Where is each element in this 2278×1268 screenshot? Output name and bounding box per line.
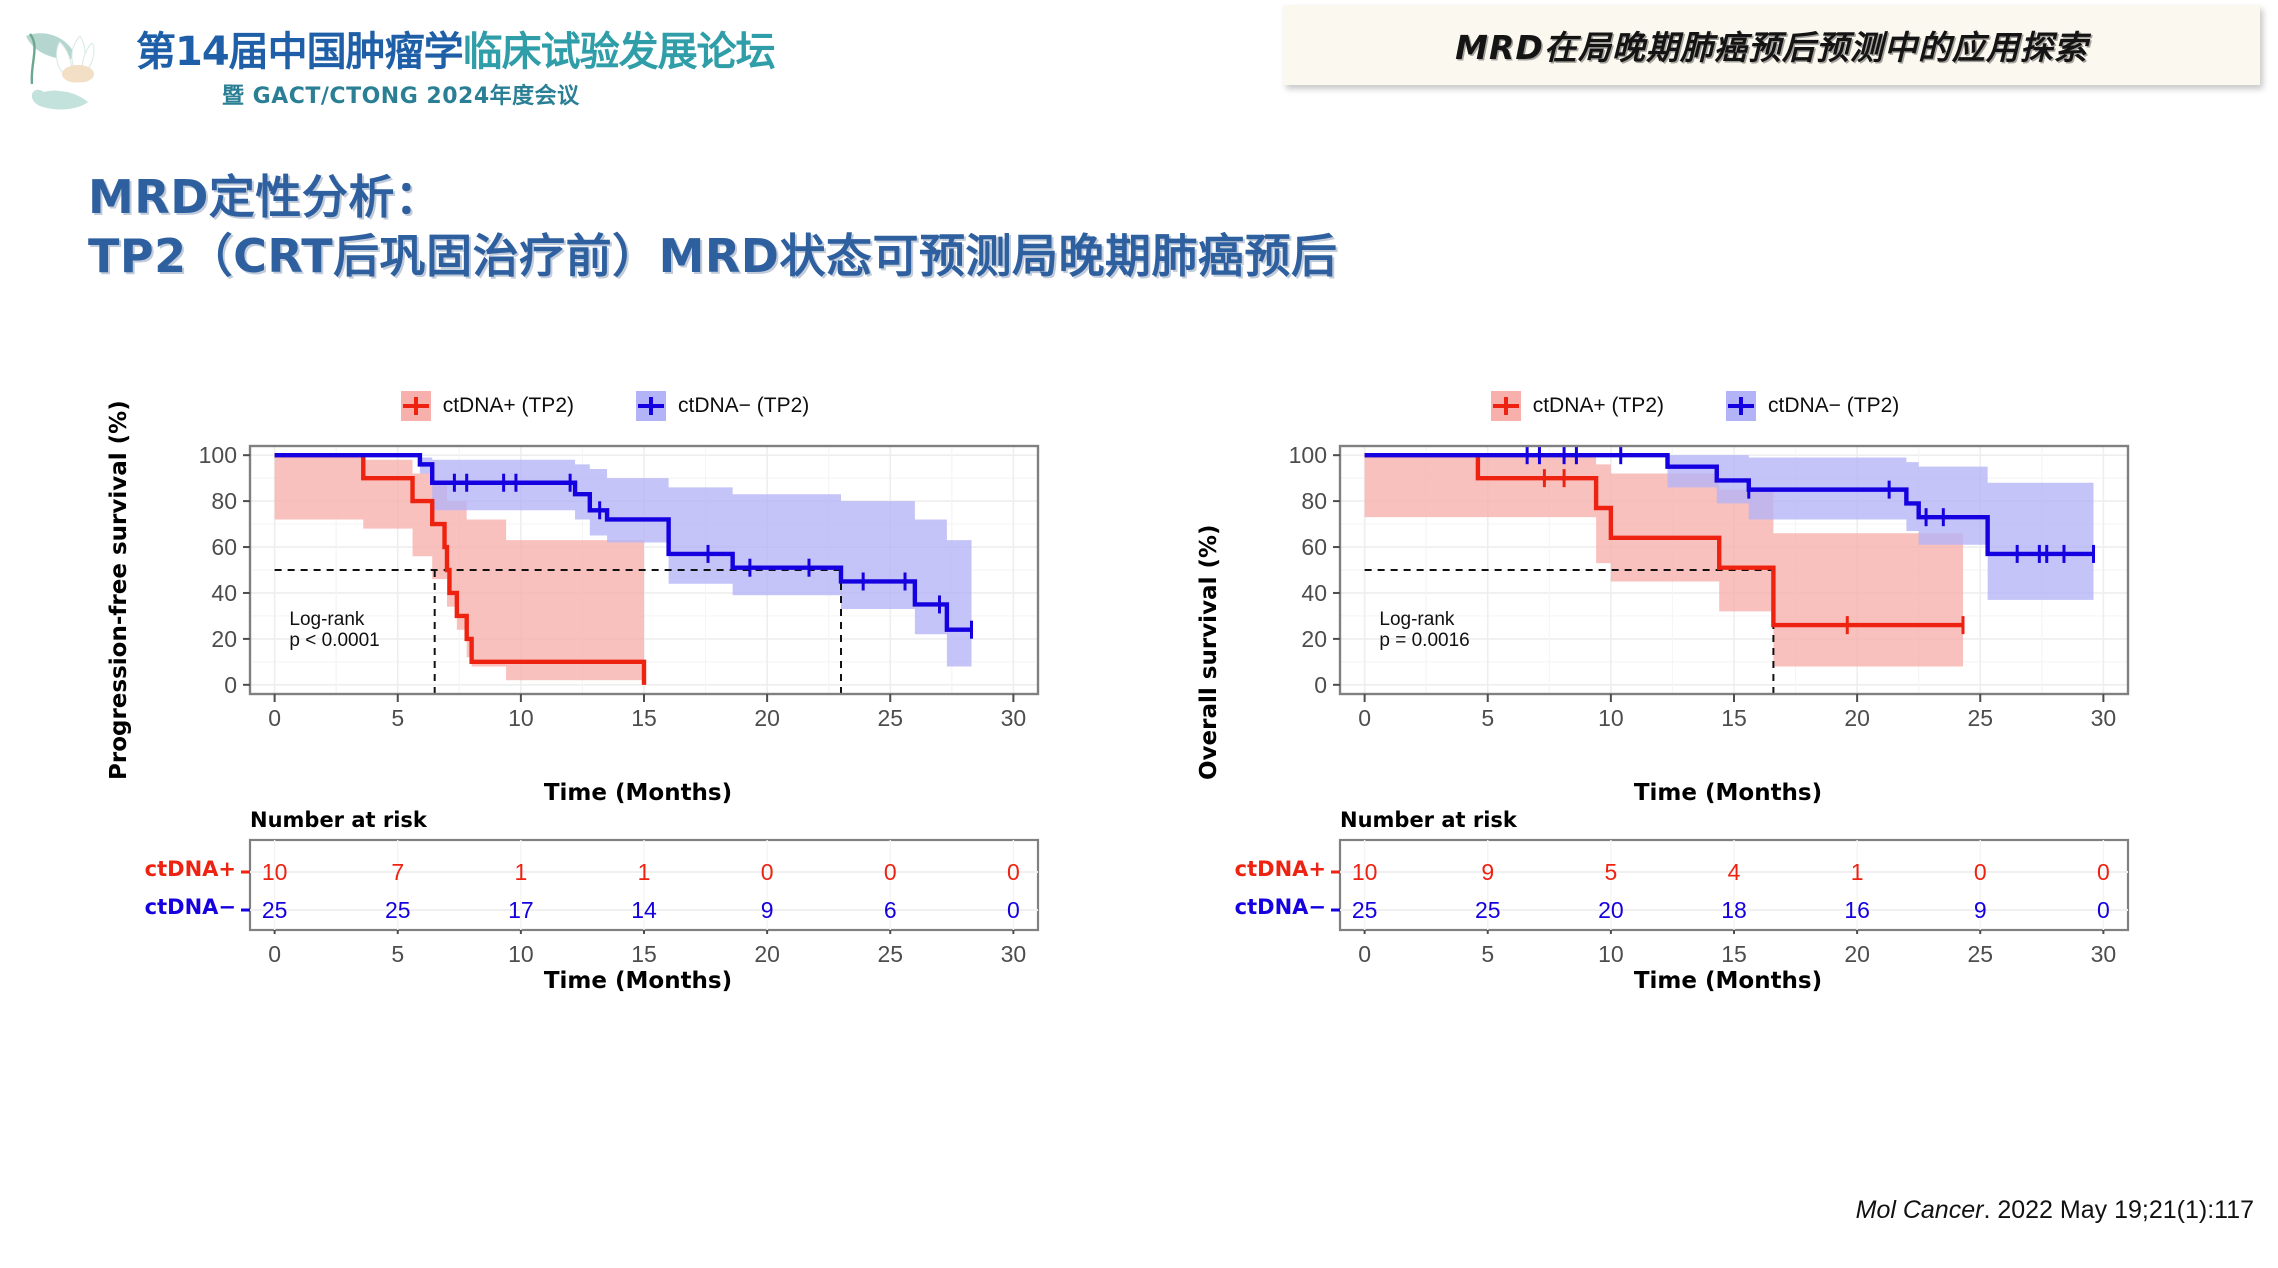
- risk-row-label-ctdna-negative: ctDNA−: [145, 895, 236, 919]
- legend-label: ctDNA− (TP2): [678, 394, 809, 418]
- x-axis-tick-label: 0: [1358, 705, 1371, 731]
- risk-axis-tick-label: 5: [391, 941, 404, 967]
- x-axis-tick-label: 5: [1481, 705, 1494, 731]
- risk-table: 1071100025251714960: [178, 838, 1098, 934]
- x-axis-tick-label: 30: [1001, 705, 1027, 731]
- risk-table-cell: 1: [638, 859, 651, 885]
- risk-table-cell: 25: [1352, 897, 1378, 923]
- risk-table-cell: 5: [1604, 859, 1617, 885]
- y-axis-tick-label: 60: [1301, 534, 1327, 560]
- risk-axis-tick-label: 25: [877, 941, 903, 967]
- risk-table-cell: 9: [761, 897, 774, 923]
- legend-label: ctDNA− (TP2): [1768, 394, 1899, 418]
- logo-edition-number: 14: [175, 29, 229, 75]
- risk-axis-tick-label: 0: [268, 941, 281, 967]
- risk-table-cell: 25: [385, 897, 411, 923]
- risk-table-cell: 10: [1352, 859, 1378, 885]
- legend-item-ctdna-negative[interactable]: ctDNA− (TP2): [636, 391, 809, 421]
- citation-journal: Mol Cancer: [1856, 1196, 1984, 1224]
- risk-table-cell: 0: [1007, 859, 1020, 885]
- y-axis-tick-label: 0: [1314, 672, 1327, 698]
- topic-banner-text: MRD在局晚期肺癌预后预测中的应用探索: [1455, 21, 2088, 69]
- legend-key-icon: [1726, 391, 1756, 421]
- logo-sub-name: 临床试验发展论坛: [463, 29, 775, 75]
- y-axis-tick-label: 100: [199, 442, 237, 468]
- risk-table-cell: 0: [1974, 859, 1987, 885]
- risk-table-title: Number at risk: [1340, 808, 1517, 832]
- risk-table-x-axis-label: Time (Months): [178, 968, 1098, 994]
- risk-axis-tick-label: 15: [631, 941, 657, 967]
- page-title: MRD定性分析： TP2（CRT后巩固治疗前）MRD状态可预测局晚期肺癌预后: [88, 168, 2188, 286]
- risk-table-cell: 1: [514, 859, 527, 885]
- legend-key-icon: [1491, 391, 1521, 421]
- legend-item-ctdna-negative[interactable]: ctDNA− (TP2): [1726, 391, 1899, 421]
- x-axis-tick-label: 5: [391, 705, 404, 731]
- risk-axis-tick-label: 20: [1844, 941, 1870, 967]
- risk-table-cell: 14: [631, 897, 657, 923]
- y-axis-tick-label: 60: [211, 534, 237, 560]
- y-axis-tick-label: 20: [211, 626, 237, 652]
- risk-axis-tick-label: 25: [1967, 941, 1993, 967]
- risk-table-cell: 25: [262, 897, 288, 923]
- page-title-line-1: MRD定性分析：: [88, 168, 2188, 227]
- risk-axis-tick-label: 15: [1721, 941, 1747, 967]
- risk-row-label-ctdna-positive: ctDNA+: [145, 857, 236, 881]
- risk-row-label-ctdna-positive: ctDNA+: [1235, 857, 1326, 881]
- legend-label: ctDNA+ (TP2): [443, 394, 574, 418]
- risk-table-cell: 9: [1974, 897, 1987, 923]
- x-axis-tick-label: 15: [1721, 705, 1747, 731]
- risk-table-cell: 25: [1475, 897, 1501, 923]
- risk-table-cell: 0: [761, 859, 774, 885]
- logo-edition-suffix: 届: [229, 29, 268, 75]
- y-axis-label: Overall survival (%): [1196, 524, 1222, 780]
- legend-label: ctDNA+ (TP2): [1533, 394, 1664, 418]
- logo-main-name: 中国肿瘤学: [268, 29, 463, 75]
- chart-panel-os: ctDNA+ (TP2)ctDNA− (TP2)Overall survival…: [1160, 380, 2230, 1210]
- risk-table-x-axis-label: Time (Months): [1268, 968, 2188, 994]
- y-axis-tick-label: 80: [1301, 488, 1327, 514]
- y-axis-tick-label: 100: [1289, 442, 1327, 468]
- topic-banner: MRD在局晚期肺癌预后预测中的应用探索: [1283, 5, 2260, 85]
- x-axis-tick-label: 10: [508, 705, 534, 731]
- y-axis-tick-label: 80: [211, 488, 237, 514]
- y-axis-tick-label: 0: [224, 672, 237, 698]
- risk-axis-tick-label: 10: [508, 941, 534, 967]
- risk-table-cell: 0: [884, 859, 897, 885]
- legend-key-icon: [401, 391, 431, 421]
- logrank-annotation-line-2: p < 0.0001: [289, 630, 379, 651]
- risk-table-cell: 0: [2097, 859, 2110, 885]
- survival-curve-plot: Log-rankp < 0.00010204060801000510152025…: [178, 432, 1098, 752]
- risk-table-cell: 0: [2097, 897, 2110, 923]
- risk-table-cell: 20: [1598, 897, 1624, 923]
- x-axis-tick-label: 30: [2091, 705, 2117, 731]
- risk-table-cell: 9: [1481, 859, 1494, 885]
- risk-axis-tick-label: 20: [754, 941, 780, 967]
- x-axis-tick-label: 10: [1598, 705, 1624, 731]
- survival-curve-plot: Log-rankp = 0.00160204060801000510152025…: [1268, 432, 2188, 752]
- risk-row-label-ctdna-negative: ctDNA−: [1235, 895, 1326, 919]
- risk-table-title: Number at risk: [250, 808, 427, 832]
- risk-table: 10954100252520181690: [1268, 838, 2188, 934]
- y-axis-label: Progression-free survival (%): [106, 400, 132, 780]
- risk-axis-tick-label: 30: [2091, 941, 2117, 967]
- risk-axis-tick-label: 5: [1481, 941, 1494, 967]
- risk-table-cell: 18: [1721, 897, 1747, 923]
- conference-logo: 第14届中国肿瘤学临床试验发展论坛 暨 GACT/CTONG 2024年度会议: [18, 12, 718, 122]
- x-axis-tick-label: 25: [877, 705, 903, 731]
- legend-item-ctdna-positive[interactable]: ctDNA+ (TP2): [401, 391, 574, 421]
- chart-panel-pfs: ctDNA+ (TP2)ctDNA− (TP2)Progression-free…: [70, 380, 1140, 1210]
- citation: Mol Cancer. 2022 May 19;21(1):117: [1856, 1196, 2254, 1225]
- risk-table-cell: 1: [1851, 859, 1864, 885]
- x-axis-tick-label: 20: [754, 705, 780, 731]
- y-axis-tick-label: 20: [1301, 626, 1327, 652]
- chart-legend: ctDNA+ (TP2)ctDNA− (TP2): [1160, 386, 2230, 426]
- x-axis-label: Time (Months): [178, 780, 1098, 806]
- risk-table-cell: 0: [1007, 897, 1020, 923]
- risk-table-cell: 7: [391, 859, 404, 885]
- risk-table-cell: 17: [508, 897, 534, 923]
- chart-legend: ctDNA+ (TP2)ctDNA− (TP2): [70, 386, 1140, 426]
- risk-axis-tick-label: 30: [1001, 941, 1027, 967]
- risk-table-cell: 10: [262, 859, 288, 885]
- risk-table-cell: 6: [884, 897, 897, 923]
- risk-axis-tick-label: 10: [1598, 941, 1624, 967]
- risk-table-cell: 16: [1844, 897, 1870, 923]
- risk-axis-tick-label: 0: [1358, 941, 1371, 967]
- x-axis-tick-label: 20: [1844, 705, 1870, 731]
- y-axis-tick-label: 40: [1301, 580, 1327, 606]
- logrank-annotation-line-1: Log-rank: [289, 609, 364, 630]
- logrank-annotation-line-2: p = 0.0016: [1379, 630, 1469, 651]
- y-axis-tick-label: 40: [211, 580, 237, 606]
- x-axis-label: Time (Months): [1268, 780, 2188, 806]
- risk-table-cell: 4: [1728, 859, 1741, 885]
- x-axis-tick-label: 25: [1967, 705, 1993, 731]
- legend-item-ctdna-positive[interactable]: ctDNA+ (TP2): [1491, 391, 1664, 421]
- logo-prefix: 第: [136, 29, 175, 75]
- legend-key-icon: [636, 391, 666, 421]
- x-axis-tick-label: 0: [268, 705, 281, 731]
- logo-subtitle: 暨 GACT/CTONG 2024年度会议: [222, 78, 775, 110]
- lotus-icon: [18, 18, 138, 118]
- x-axis-tick-label: 15: [631, 705, 657, 731]
- logrank-annotation-line-1: Log-rank: [1379, 609, 1454, 630]
- page-title-line-2: TP2（CRT后巩固治疗前）MRD状态可预测局晚期肺癌预后: [88, 227, 2188, 286]
- citation-details: . 2022 May 19;21(1):117: [1983, 1196, 2254, 1224]
